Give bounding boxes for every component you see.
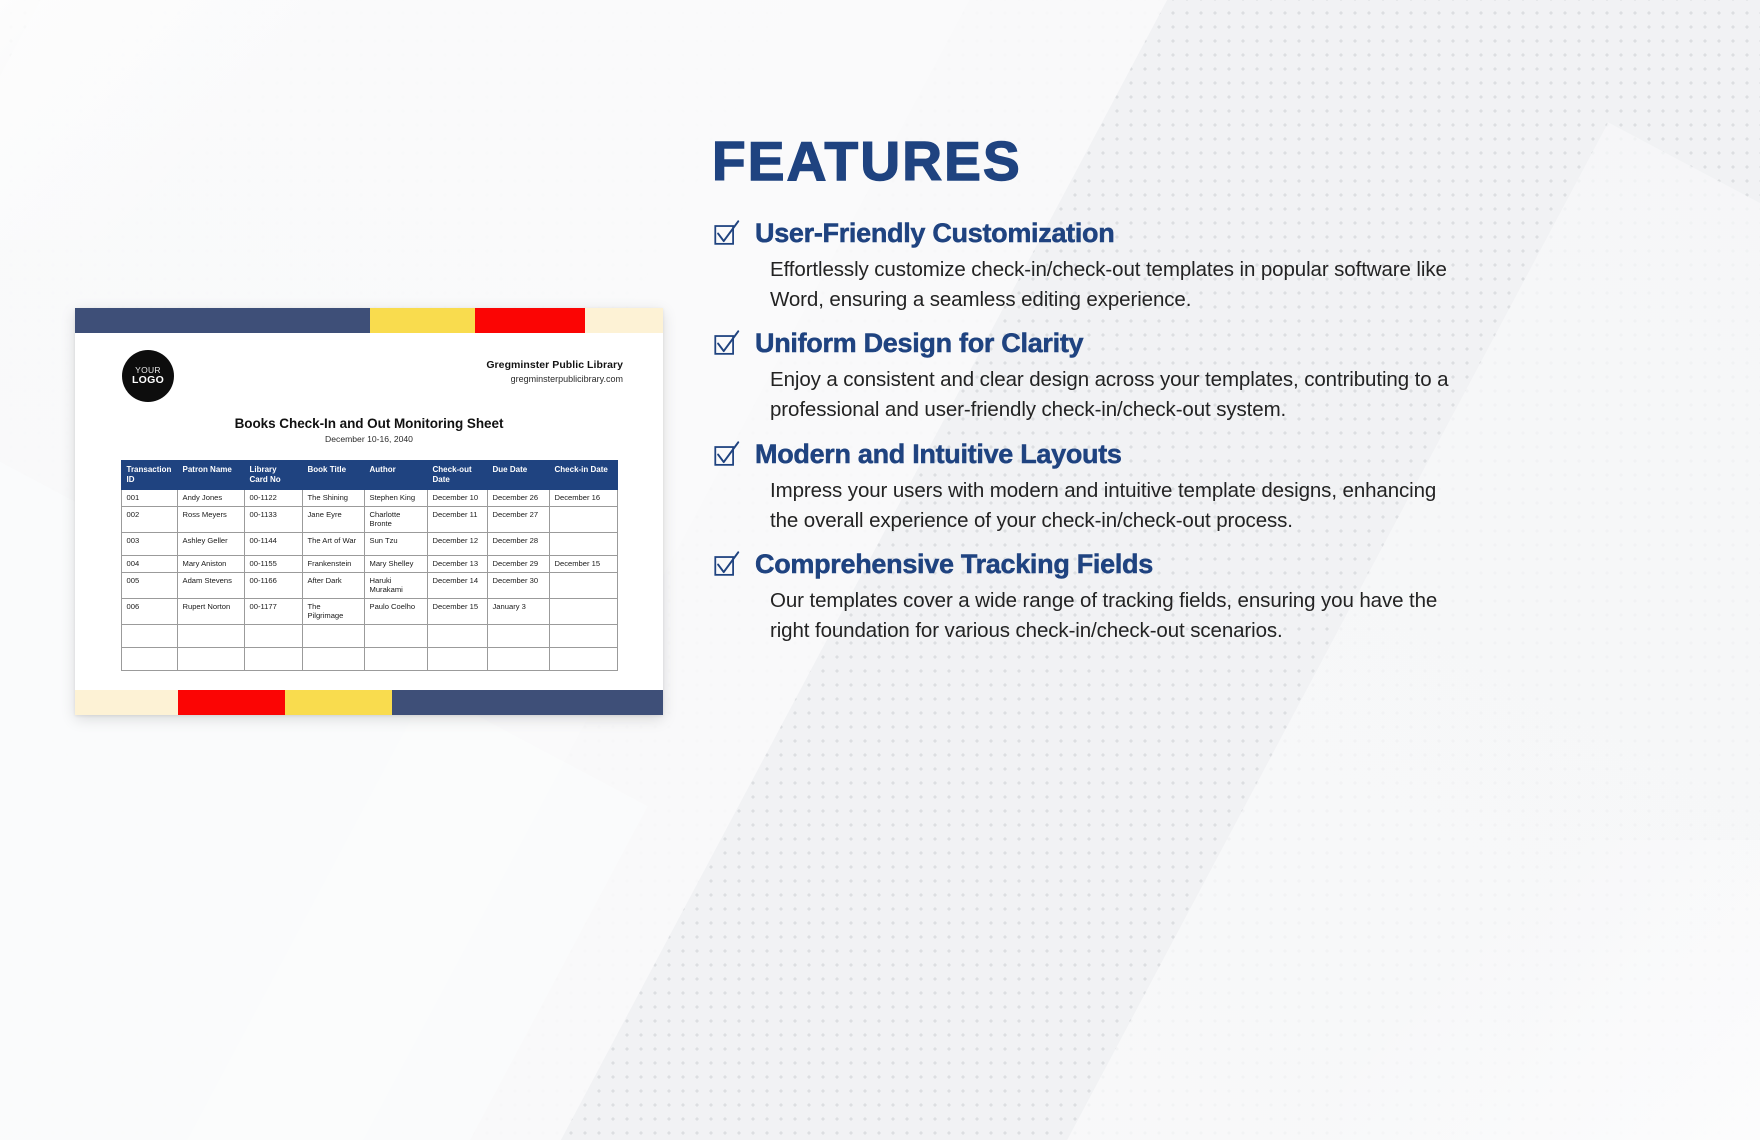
table-cell: Mary Shelley xyxy=(364,555,427,572)
table-cell: Stephen King xyxy=(364,490,427,507)
table-column-header: Transaction ID xyxy=(121,461,177,490)
table-cell: 002 xyxy=(121,507,177,533)
table-cell xyxy=(549,647,617,670)
color-bar-segment-cream xyxy=(75,690,178,715)
table-cell xyxy=(549,598,617,624)
table-cell: 004 xyxy=(121,555,177,572)
table-row: 006Rupert Norton00-1177The PilgrimagePau… xyxy=(121,598,617,624)
table-cell: December 15 xyxy=(427,598,487,624)
organization-website: gregminsterpublicibrary.com xyxy=(486,374,623,384)
color-bar-segment-yellow xyxy=(285,690,392,715)
feature-heading: Modern and Intuitive Layouts xyxy=(755,440,1122,470)
table-cell xyxy=(177,624,244,647)
table-column-header: Patron Name xyxy=(177,461,244,490)
color-bar-segment-red xyxy=(475,308,585,333)
feature-description: Enjoy a consistent and clear design acro… xyxy=(770,365,1470,425)
document-subtitle: December 10-16, 2040 xyxy=(75,434,663,444)
table-cell xyxy=(549,624,617,647)
document-title: Books Check-In and Out Monitoring Sheet xyxy=(75,416,663,431)
color-bar-segment-navy xyxy=(75,308,370,333)
table-column-header: Library Card No xyxy=(244,461,302,490)
table-cell: 00-1155 xyxy=(244,555,302,572)
table-cell xyxy=(302,647,364,670)
table-cell: 00-1166 xyxy=(244,572,302,598)
background-corner-highlight xyxy=(0,0,300,240)
table-cell xyxy=(121,647,177,670)
organization-block: Gregminster Public Library gregminsterpu… xyxy=(486,350,623,384)
table-cell: December 10 xyxy=(427,490,487,507)
table-cell: 006 xyxy=(121,598,177,624)
table-cell xyxy=(364,647,427,670)
table-cell xyxy=(177,647,244,670)
logo-placeholder: YOUR LOGO xyxy=(122,350,174,402)
table-cell xyxy=(549,532,617,555)
table-cell: The Pilgrimage xyxy=(302,598,364,624)
table-cell: December 29 xyxy=(487,555,549,572)
checkbox-checked-icon xyxy=(712,440,742,470)
table-cell: The Art of War xyxy=(302,532,364,555)
feature-heading: Comprehensive Tracking Fields xyxy=(755,550,1153,580)
features-list: User-Friendly CustomizationEffortlessly … xyxy=(712,219,1512,646)
table-row: 001Andy Jones00-1122The ShiningStephen K… xyxy=(121,490,617,507)
table-cell: 00-1144 xyxy=(244,532,302,555)
table-cell: December 15 xyxy=(549,555,617,572)
table-cell: 003 xyxy=(121,532,177,555)
table-cell: Andy Jones xyxy=(177,490,244,507)
table-row: 004Mary Aniston00-1155FrankensteinMary S… xyxy=(121,555,617,572)
table-cell: December 16 xyxy=(549,490,617,507)
table-cell: Sun Tzu xyxy=(364,532,427,555)
table-cell: Paulo Coelho xyxy=(364,598,427,624)
background-corner-highlight xyxy=(1340,840,1760,1140)
feature-item: Modern and Intuitive LayoutsImpress your… xyxy=(712,440,1512,536)
table-cell xyxy=(244,647,302,670)
feature-heading-row: Modern and Intuitive Layouts xyxy=(712,440,1512,470)
table-cell: Frankenstein xyxy=(302,555,364,572)
table-cell: Ross Meyers xyxy=(177,507,244,533)
table-cell: December 14 xyxy=(427,572,487,598)
feature-description: Impress your users with modern and intui… xyxy=(770,476,1470,536)
table-cell: The Shining xyxy=(302,490,364,507)
table-cell: 00-1133 xyxy=(244,507,302,533)
table-cell: December 26 xyxy=(487,490,549,507)
table-cell: Adam Stevens xyxy=(177,572,244,598)
table-cell: 001 xyxy=(121,490,177,507)
document-header: YOUR LOGO Gregminster Public Library gre… xyxy=(75,333,663,402)
table-cell: 005 xyxy=(121,572,177,598)
table-header-row: Transaction IDPatron NameLibrary Card No… xyxy=(121,461,617,490)
table-cell: December 11 xyxy=(427,507,487,533)
table-cell: December 27 xyxy=(487,507,549,533)
books-monitoring-table: Transaction IDPatron NameLibrary Card No… xyxy=(121,460,618,671)
organization-name: Gregminster Public Library xyxy=(486,359,623,371)
table-cell: 00-1177 xyxy=(244,598,302,624)
table-column-header: Due Date xyxy=(487,461,549,490)
table-column-header: Check-in Date xyxy=(549,461,617,490)
features-title: FEATURES xyxy=(712,134,1512,189)
table-cell: 00-1122 xyxy=(244,490,302,507)
checkbox-checked-icon xyxy=(712,219,742,249)
document-bottom-color-bar xyxy=(75,690,663,715)
document-preview-card: YOUR LOGO Gregminster Public Library gre… xyxy=(75,308,663,715)
table-cell xyxy=(244,624,302,647)
feature-heading-row: Uniform Design for Clarity xyxy=(712,329,1512,359)
document-title-block: Books Check-In and Out Monitoring Sheet … xyxy=(75,416,663,444)
document-body: YOUR LOGO Gregminster Public Library gre… xyxy=(75,333,663,671)
table-cell: Jane Eyre xyxy=(302,507,364,533)
color-bar-segment-red xyxy=(178,690,285,715)
table-cell: January 3 xyxy=(487,598,549,624)
table-cell: Mary Aniston xyxy=(177,555,244,572)
color-bar-segment-yellow xyxy=(370,308,475,333)
table-cell xyxy=(302,624,364,647)
document-top-color-bar xyxy=(75,308,663,333)
feature-heading: User-Friendly Customization xyxy=(755,219,1114,249)
feature-heading-row: Comprehensive Tracking Fields xyxy=(712,550,1512,580)
feature-description: Effortlessly customize check-in/check-ou… xyxy=(770,255,1470,315)
feature-item: Uniform Design for ClarityEnjoy a consis… xyxy=(712,329,1512,425)
table-row xyxy=(121,647,617,670)
checkbox-checked-icon xyxy=(712,329,742,359)
table-cell: Haruki Murakami xyxy=(364,572,427,598)
table-cell xyxy=(549,507,617,533)
logo-line-2: LOGO xyxy=(132,375,164,386)
table-cell xyxy=(549,572,617,598)
table-column-header: Author xyxy=(364,461,427,490)
feature-description: Our templates cover a wide range of trac… xyxy=(770,586,1470,646)
table-row xyxy=(121,624,617,647)
table-cell: December 28 xyxy=(487,532,549,555)
checkbox-checked-icon xyxy=(712,550,742,580)
color-bar-segment-cream xyxy=(585,308,663,333)
table-cell: December 30 xyxy=(487,572,549,598)
table-cell: December 13 xyxy=(427,555,487,572)
table-cell: Charlotte Bronte xyxy=(364,507,427,533)
table-column-header: Book Title xyxy=(302,461,364,490)
color-bar-segment-navy xyxy=(392,690,663,715)
feature-heading: Uniform Design for Clarity xyxy=(755,329,1083,359)
table-cell xyxy=(121,624,177,647)
table-row: 002Ross Meyers00-1133Jane EyreCharlotte … xyxy=(121,507,617,533)
feature-heading-row: User-Friendly Customization xyxy=(712,219,1512,249)
table-cell xyxy=(364,624,427,647)
table-cell: Rupert Norton xyxy=(177,598,244,624)
table-cell: Ashley Geller xyxy=(177,532,244,555)
table-row: 003Ashley Geller00-1144The Art of WarSun… xyxy=(121,532,617,555)
feature-item: Comprehensive Tracking FieldsOur templat… xyxy=(712,550,1512,646)
table-cell xyxy=(427,647,487,670)
feature-item: User-Friendly CustomizationEffortlessly … xyxy=(712,219,1512,315)
table-cell: December 12 xyxy=(427,532,487,555)
table-cell xyxy=(487,647,549,670)
features-panel: FEATURES User-Friendly CustomizationEffo… xyxy=(712,134,1512,660)
table-cell xyxy=(427,624,487,647)
table-cell xyxy=(487,624,549,647)
table-row: 005Adam Stevens00-1166After DarkHaruki M… xyxy=(121,572,617,598)
table-column-header: Check-out Date xyxy=(427,461,487,490)
table-cell: After Dark xyxy=(302,572,364,598)
table-body: 001Andy Jones00-1122The ShiningStephen K… xyxy=(121,490,617,671)
